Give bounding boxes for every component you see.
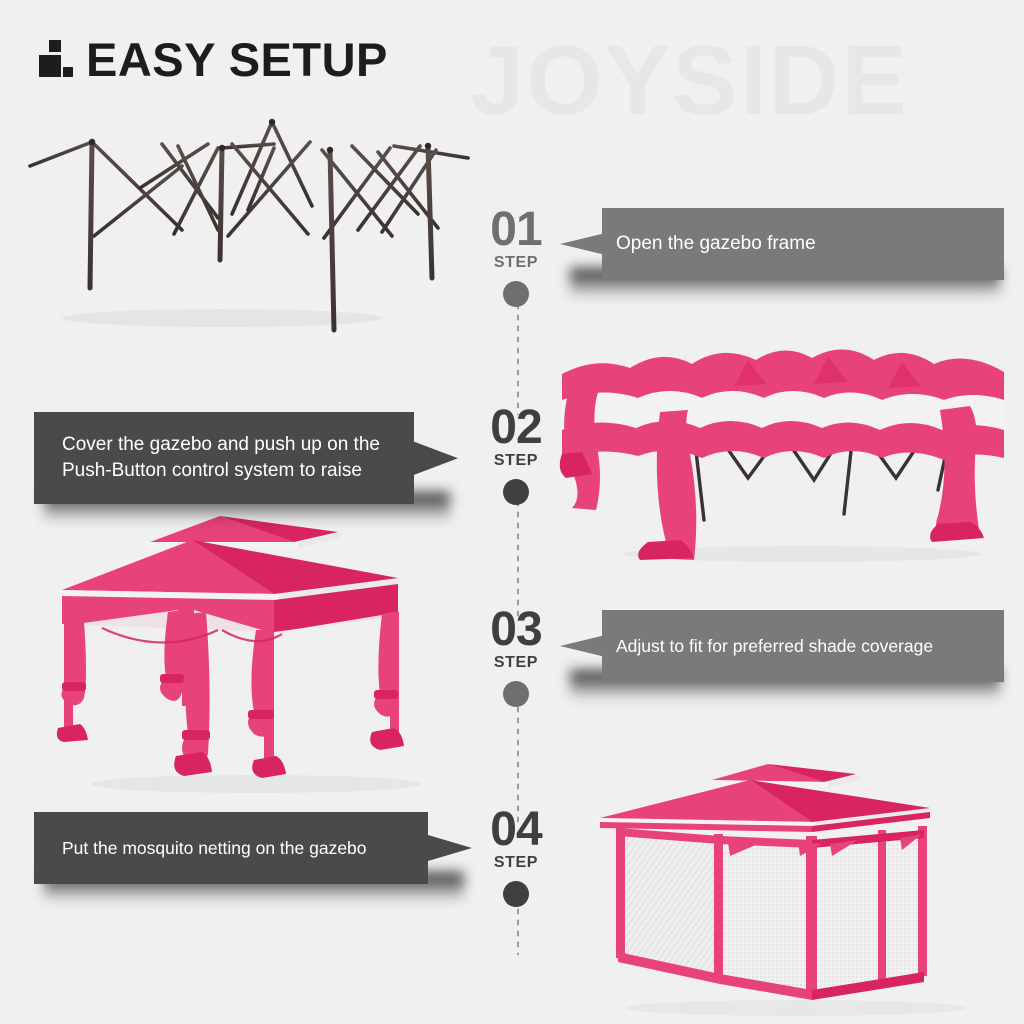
step-callout-04[interactable]: Put the mosquito netting on the gazebo: [34, 812, 472, 884]
step-marker-02: 02 STEP: [456, 406, 576, 505]
step-callout-01[interactable]: Open the gazebo frame: [560, 208, 1004, 280]
infographic-canvas: JOYSIDE EASY SETUP: [0, 0, 1024, 1024]
step-dot-04: [503, 881, 529, 907]
photo-gazebo-canopy-draped: [552, 338, 1020, 570]
step-number-03: 03: [456, 608, 576, 652]
step-marker-03: 03 STEP: [456, 608, 576, 707]
photo-gazebo-erected-curtains-tied: [42, 498, 470, 798]
step-callout-02-text-line-1: Cover the gazebo and push up on the: [62, 434, 380, 455]
step-number-01: 01: [456, 208, 576, 252]
step-dot-02: [503, 479, 529, 505]
step-callout-02-text-line-2: Push-Button control system to raise: [62, 460, 362, 481]
step-number-04: 04: [456, 808, 576, 852]
step-word-02: STEP: [456, 452, 576, 470]
step-marker-04: 04 STEP: [456, 808, 576, 907]
page-header: EASY SETUP: [38, 36, 388, 83]
step-marker-01: 01 STEP: [456, 208, 576, 307]
step-callout-02-banner[interactable]: Cover the gazebo and push up on the Push…: [34, 412, 458, 504]
step-word-04: STEP: [456, 854, 576, 872]
step-word-03: STEP: [456, 654, 576, 672]
step-dot-01: [503, 281, 529, 307]
step-callout-03[interactable]: Adjust to fit for preferred shade covera…: [560, 610, 1004, 682]
photo-gazebo-with-mosquito-netting: [572, 752, 1020, 1020]
photo-gazebo-frame-folded-open: [22, 118, 472, 333]
step-callout-03-text: Adjust to fit for preferred shade covera…: [616, 634, 933, 658]
step-callout-01-banner[interactable]: Open the gazebo frame: [560, 208, 1004, 280]
brand-watermark: JOYSIDE: [470, 24, 909, 137]
step-callout-04-banner[interactable]: Put the mosquito netting on the gazebo: [34, 812, 472, 884]
page-title: EASY SETUP: [86, 36, 388, 83]
step-dot-03: [503, 681, 529, 707]
step-callout-04-text: Put the mosquito netting on the gazebo: [62, 836, 367, 860]
step-word-01: STEP: [456, 254, 576, 272]
step-number-02: 02: [456, 406, 576, 450]
step-callout-03-banner[interactable]: Adjust to fit for preferred shade covera…: [560, 610, 1004, 682]
three-squares-logo-icon: [38, 38, 72, 82]
step-callout-02[interactable]: Cover the gazebo and push up on the Push…: [34, 412, 458, 504]
step-callout-01-text: Open the gazebo frame: [616, 231, 816, 257]
